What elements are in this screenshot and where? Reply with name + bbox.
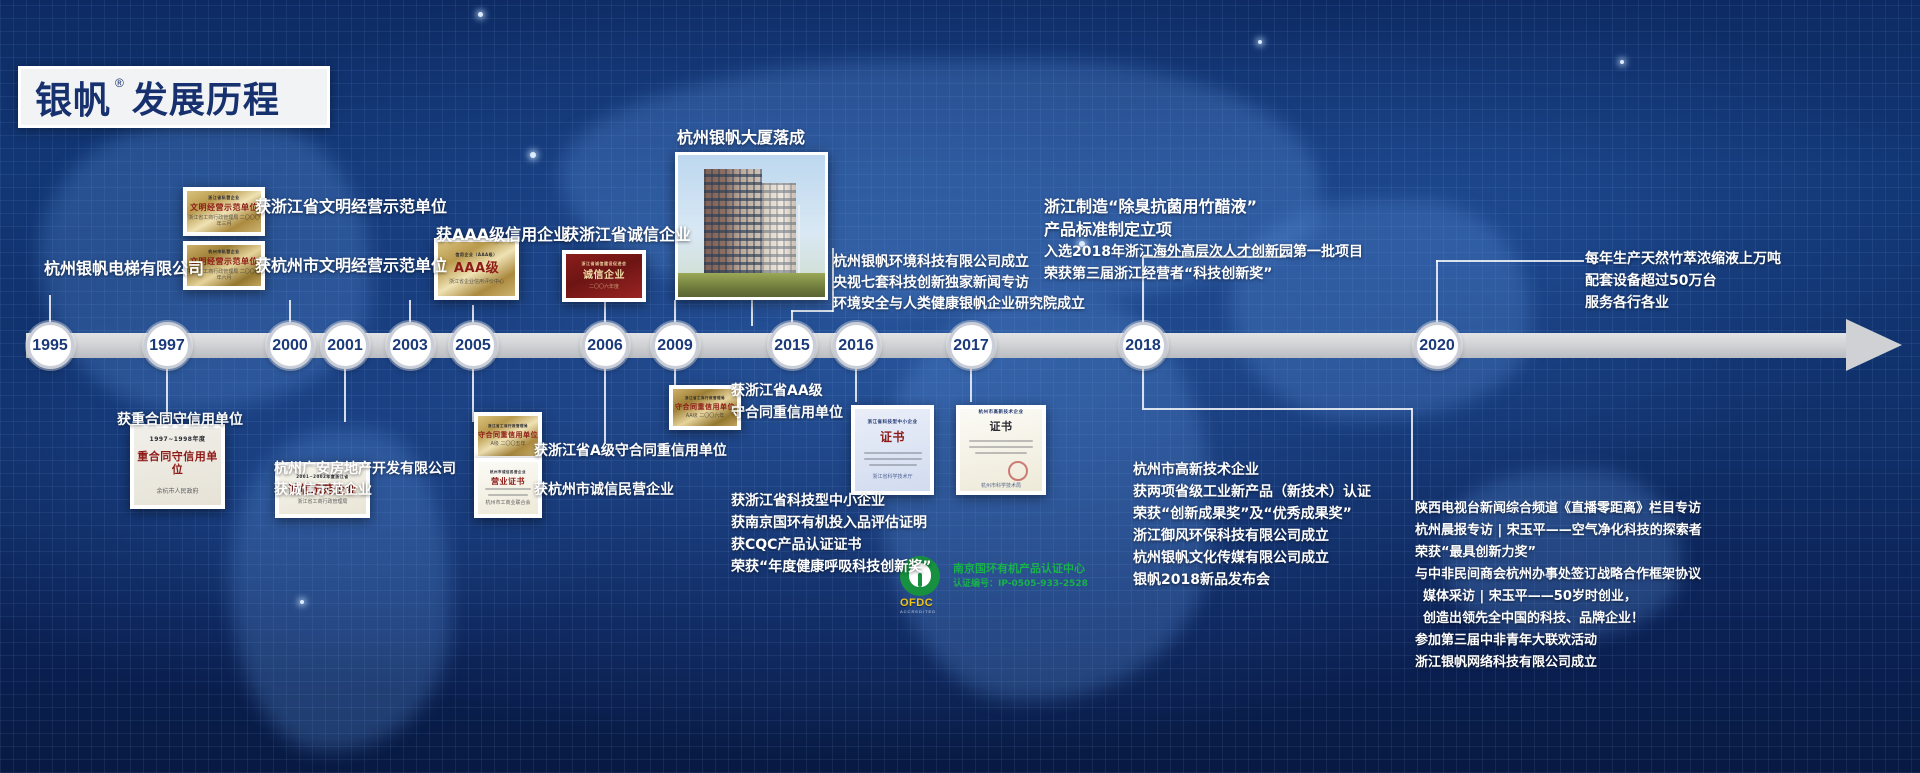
label-2016-line-5: 杭州银帆文化传媒有限公司成立 [1133,549,1329,569]
plaque-sub-text: 二〇〇六年度 [589,284,619,290]
label-2016-line-1: 杭州市高新技术企业 [1133,461,1259,481]
year-node-2015[interactable]: 2015 [769,322,816,369]
label-2020-line-1: 每年生产天然竹萃浓缩液上万吨 [1585,250,1781,270]
leader-line-2009-down [674,368,676,386]
sparkle-dot [478,12,483,17]
year-node-2020[interactable]: 2020 [1414,322,1461,369]
leader-elbow-2015 [791,310,833,312]
plaque-text-rule [485,488,531,490]
plaque-a-level-contract-credit-2005[interactable]: 浙江省工商行政管理局 守合同重信用单位 A级 二〇〇五年 [474,412,542,460]
label-2020-line-2: 配套设备超过50万台 [1585,272,1716,292]
certificate-red-seal-icon [1008,461,1028,481]
landmass-east-asia [1230,200,1530,420]
label-2000-hangzhou: 获杭州市文明经营示范单位 [255,255,447,278]
year-node-2018[interactable]: 2018 [1120,322,1167,369]
registered-trademark-icon: ® [115,76,124,90]
label-2018-line-3: 入选2018年浙江海外高层次人才创新园第一批项目 [1044,243,1363,263]
year-node-2005[interactable]: 2005 [450,322,497,369]
building-windows-side [762,183,796,281]
label-2003-aaa: 获AAA级信用企业 [436,224,569,247]
certificate-sub-text: 浙江省科学技术厅 [872,474,912,480]
plaque-top-text: 浙江省私营企业 [208,196,240,201]
plaque-text-rule [488,494,528,496]
year-node-2000[interactable]: 2000 [267,322,314,369]
page-title-banner: 银帆 ® 发展历程 [18,66,330,128]
label-2005-hangzhou: 获杭州市诚信民营企业 [534,481,674,501]
plaque-main-text: 守合同重信用单位 [675,403,735,411]
label-2015-line-2: 央视七套科技创新独家新闻专访 [833,274,1029,294]
certificate-text-rule [864,458,922,460]
leader-elbow-2020 [1436,260,1584,262]
label-1995: 杭州银帆电梯有限公司 [44,258,204,281]
plaque-sub-text: AA级 二〇〇六年 [686,413,725,419]
label-2016-line-4: 浙江御风环保科技有限公司成立 [1133,527,1329,547]
plaque-main-text: 营业证书 [491,477,525,486]
label-2009-line-4: 荣获“年度健康呼吸科技创新奖” [731,558,931,578]
plaque-sub-text: 浙江省工商行政管理局 二〇〇〇年三月 [187,215,261,228]
label-2001-line-1: 杭州广安房地产开发有限公司 [274,460,456,480]
certificate-text-rule [869,464,917,466]
sparkle-dot [300,600,304,604]
plaque-top-text: 杭州市诚信民营企业 [490,470,526,474]
label-2018-below-line-8: 浙江银帆网络科技有限公司成立 [1415,654,1597,672]
plaque-hangzhou-integrity-private-enterprise[interactable]: 杭州市诚信民营企业 营业证书 杭州市工商业联合会 [474,458,542,518]
leader-line-2018-down [1142,368,1144,408]
building-tower-main [704,169,762,281]
plaque-top-text: 信用企业（AAA级） [455,253,497,258]
certificate-text-rule [969,440,1033,442]
ofdc-cert-number: 认证编号：IP-0505-933-2528 [953,576,1088,589]
label-2015-line-3: 环境安全与人类健康银帆企业研究院成立 [833,295,1085,315]
label-2006-credit: 获浙江省诚信企业 [563,224,691,247]
label-2015-line-1: 杭州银帆环境科技有限公司成立 [833,253,1029,273]
page-title: 发展历程 [132,71,280,123]
ofdc-center-name: 南京国环有机产品认证中心 [953,560,1085,576]
label-2018-below-line-7: 参加第三届中非青年大联欢活动 [1415,632,1597,650]
certificate-main-text: 证书 [990,421,1013,434]
leader-elbow-2018-down [1142,408,1412,410]
label-2009-line-3: 获CQC产品认证证书 [731,536,861,556]
label-2009-line-1: 获浙江省科技型中小企业 [731,492,885,512]
plaque-top-text: 浙江省诚信建设促进会 [582,262,627,267]
hangzhou-yinfan-building-photo[interactable] [675,152,828,300]
certificate-main-text: 证书 [880,431,905,445]
label-2018-below-line-3: 荣获“最具创新力奖” [1415,544,1536,562]
leader-line-2006-down [604,368,606,444]
ofdc-accredited-text: ACCREDITED [900,609,946,614]
label-2018-below-line-1: 陕西电视台新闻综合频道《直播零距离》栏目专访 [1415,500,1701,518]
plaque-main-text: 诚信企业 [583,270,625,282]
plaque-zhejiang-integrity-enterprise[interactable]: 浙江省诚信建设促进会 诚信企业 二〇〇六年度 [562,250,646,302]
timeline-arrow-icon [1846,319,1902,371]
label-2001-line-2: 获诚信示范企业 [274,481,372,501]
plaque-main-text: 守合同重信用单位 [478,431,538,439]
sparkle-dot [530,152,536,158]
plaque-sub-text: 杭州市工商业联合会 [485,500,530,506]
label-2018-line-2: 产品标准制定立项 [1044,219,1172,242]
plaque-sub-text: 浙江省企业信用评价中心 [449,279,504,285]
label-2006-aa-line-2: 守合同重信用单位 [731,404,843,424]
plaque-sub-text: 余杭市人民政府 [156,488,198,496]
year-node-2006[interactable]: 2006 [582,322,629,369]
leader-line-2001-down [344,368,346,422]
plaque-main-text: 文明经营示范单位 [190,203,258,212]
sparkle-dot [1620,60,1624,64]
certificate-text-rule [969,446,1033,448]
building-tower-side [762,183,796,281]
plaque-main-text: 重合同守信用单位 [134,451,221,476]
leader-line-2020-up [1436,260,1438,326]
label-2018-below-line-2: 杭州晨报专访 | 宋玉平——空气净化科技的探索者 [1415,522,1702,540]
certificate-hangzhou-high-tech[interactable]: 杭州市高新技术企业 证书 杭州市科学技术局 [956,405,1046,495]
plaque-sub-text: A级 二〇〇五年 [490,441,525,447]
leader-line-building [751,300,753,326]
label-2018-line-1: 浙江制造“除臭抗菌用竹醋液” [1044,196,1257,219]
year-node-1995[interactable]: 1995 [27,322,74,369]
year-node-2016[interactable]: 2016 [833,322,880,369]
label-2018-below-line-6: 创造出领先全中国的科技、品牌企业！ [1423,610,1644,628]
plaque-top-text: 1997~1998年度 [150,437,206,444]
year-node-1997[interactable]: 1997 [144,322,191,369]
label-2018-below-line-4: 与中非民间商会杭州办事处签订战略合作框架协议 [1415,566,1701,584]
building-windows [704,169,762,281]
label-2000-zhejiang: 获浙江省文明经营示范单位 [255,196,447,219]
brand-logo-text: 银帆 [35,70,111,124]
plaque-contract-credit-unit-1997[interactable]: 1997~1998年度 重合同守信用单位 余杭市人民政府 [130,424,225,509]
leader-line-2016-down [855,368,857,402]
label-1997: 获重合同守信用单位 [117,411,243,431]
year-node-2001[interactable]: 2001 [322,322,369,369]
plaque-top-text: 杭州市私营企业 [208,250,240,255]
label-2009-line-2: 获南京国环有机投入品评估证明 [731,514,927,534]
label-2005-a-level: 获浙江省A级守合同重信用单位 [534,442,727,462]
plaque-zhejiang-civilized-operation[interactable]: 浙江省私营企业 文明经营示范单位 浙江省工商行政管理局 二〇〇〇年三月 [183,187,265,236]
certificate-text-rule [975,452,1027,454]
street-lamp-icon [798,205,800,279]
leader-line-1995 [49,295,51,325]
label-2006-aa-line-1: 获浙江省AA级 [731,382,823,402]
label-2016-line-6: 银帆2018新品发布会 [1133,571,1270,591]
label-2018-line-4: 荣获第三届浙江经营者“科技创新奖” [1044,265,1272,285]
certificate-text-rule [864,452,922,454]
certificate-top-text: 浙江省科技型中小企业 [868,420,918,425]
leader-line-2017-down [970,368,972,402]
timeline-infographic: 银帆 ® 发展历程 1995 1997 2000 2001 2003 2005 … [0,0,1920,773]
label-2016-line-3: 荣获“创新成果奖”及“优秀成果奖” [1133,505,1352,525]
year-node-2009[interactable]: 2009 [652,322,699,369]
leader-line-2018-drop [1411,408,1413,500]
label-2016-line-2: 获两项省级工业新产品（新技术）认证 [1133,483,1371,503]
certificate-sub-text: 杭州市科学技术局 [981,483,1021,489]
ofdc-brand-text: OFDC [900,597,946,609]
plaque-top-text: 浙江省工商行政管理局 [685,396,725,400]
label-2018-below-line-5: 媒体采访 | 宋玉平——50岁时创业， [1423,588,1637,606]
caption-building: 杭州银帆大厦落成 [677,127,805,150]
certificate-top-text: 杭州市高新技术企业 [979,410,1024,415]
year-node-2017[interactable]: 2017 [948,322,995,369]
year-node-2003[interactable]: 2003 [387,322,434,369]
plaque-top-text: 浙江省工商行政管理局 [488,424,528,428]
treeline [678,273,825,297]
plaque-main-text: AAA级 [454,262,499,277]
sparkle-dot [1258,40,1262,44]
label-2020-line-3: 服务各行各业 [1585,294,1669,314]
certificate-zhejiang-sme-tech[interactable]: 浙江省科技型中小企业 证书 浙江省科学技术厅 [851,405,934,495]
